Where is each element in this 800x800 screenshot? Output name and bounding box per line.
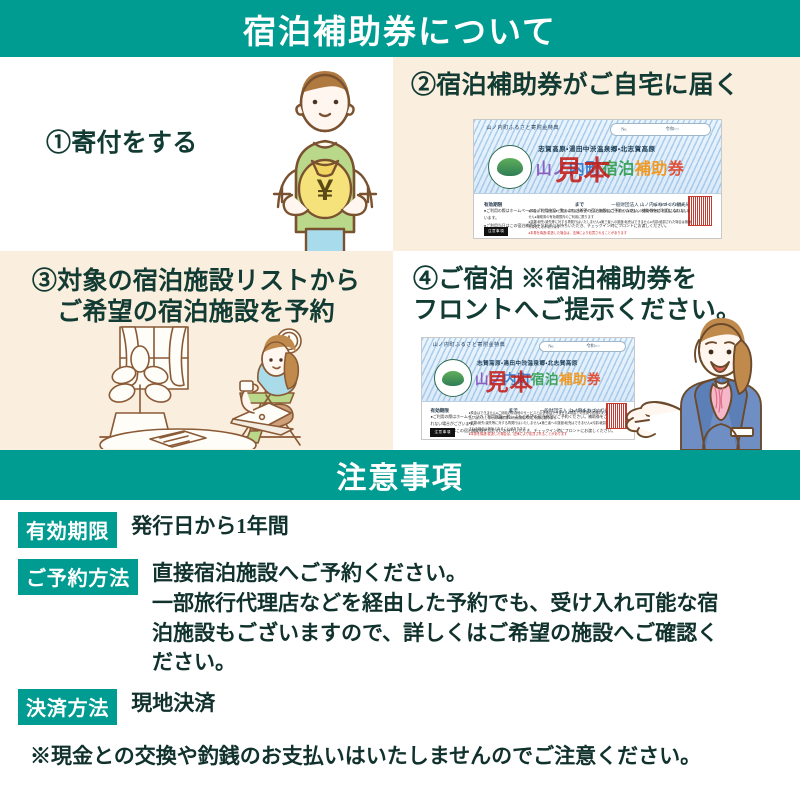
- voucher-title-part-5b: 券: [587, 372, 601, 387]
- infographic-page: 宿泊補助券について ①寄付をする: [0, 0, 800, 800]
- voucher-title-part-4b: 補助: [559, 372, 587, 387]
- sample-stamp-2: 見本: [486, 363, 534, 397]
- voucher-title-part-3b: 宿泊: [531, 372, 559, 387]
- voucher-fine-print-2b: ●盗難・紛失・滅失等に対する再発行はいたしません●第三者への譲渡・転売はできませ…: [469, 421, 609, 432]
- sample-stamp: 見本: [556, 149, 612, 188]
- voucher-number-value-2: 令和○○: [586, 343, 599, 349]
- page-title: 宿泊補助券について: [243, 5, 557, 53]
- voucher-title-part-5: 券: [668, 161, 685, 178]
- step-2-title: ②宿泊補助券がご自宅に届く: [411, 71, 739, 102]
- notes-header-banner: 注意事項: [0, 450, 800, 500]
- voucher-fine-print: ●換金はできません●ご利用の際は他のサービスとの併用はできません●現金との交換や…: [528, 209, 691, 236]
- voucher-expiry-label-2: 有効期限: [430, 408, 448, 414]
- hotel-receptionist-illustration: [603, 310, 793, 450]
- voucher-fine-print-3: ●本券を偽造・変造した場合は、法律により処罰されることがあります: [528, 231, 691, 236]
- voucher-black-tag: 注意事項: [484, 227, 508, 236]
- steps-grid: ①寄付をする: [0, 57, 800, 450]
- note-tag-expiry: 有効期限: [18, 512, 117, 548]
- voucher-title-part-4: 補助: [635, 161, 668, 178]
- notes-header-title: 注意事項: [336, 453, 463, 497]
- town-logo-icon: [488, 145, 532, 189]
- voucher-fine-print-2: ●盗難・紛失・滅失等に対する再発行はいたしません●第三者への譲渡・転売はできませ…: [528, 220, 691, 231]
- voucher-fine-print-1b: ●換金はできません●ご利用の際は他のサービスとの併用はできません●現金との交換や…: [469, 411, 609, 422]
- voucher-number-label: No.: [621, 127, 627, 132]
- voucher-fine-print-b: ●換金はできません●ご利用の際は他のサービスとの併用はできません●現金との交換や…: [469, 411, 609, 438]
- town-logo-icon-2: [434, 359, 472, 397]
- voucher-qr-icon: [688, 196, 712, 226]
- voucher-expiry-row: 有効期限 まで 一般財団法人 山ノ内まちづくり観光局 ℡0269-33-2138: [484, 202, 711, 209]
- note-tag-reservation: ご予約方法: [18, 559, 138, 595]
- voucher-brand: 山ノ内町ふるさと寄附金特典: [486, 124, 559, 131]
- voucher-black-tag-2: 注意事項: [430, 428, 454, 437]
- voucher-expiry-value: まで: [575, 202, 584, 208]
- voucher-phone: ℡0269-33-2138: [653, 202, 684, 208]
- note-row-expiry: 有効期限 発行日から1年間: [18, 512, 782, 548]
- notes-footer: ※現金との交換や釣銭のお支払いはいたしませんのでご注意ください。: [18, 736, 782, 770]
- voucher-fine-print-3b: ●本券を偽造・変造した場合は、法律により処罰されることがあります: [469, 432, 609, 437]
- svg-text:¥: ¥: [317, 174, 334, 207]
- voucher-ticket-step2: 山ノ内町ふるさと寄附金特典 No. 令和○○ 志賀高原・湯田中渋温泉郷・北志賀高…: [473, 119, 722, 239]
- voucher-number-value: 令和○○: [666, 126, 679, 132]
- page-title-banner: 宿泊補助券について: [0, 0, 800, 57]
- voucher-bottom: 有効期限 まで 一般財団法人 山ノ内まちづくり観光局 ℡0269-33-2138…: [474, 194, 721, 239]
- note-body-expiry: 発行日から1年間: [131, 512, 289, 542]
- note-tag-payment: 決済方法: [18, 689, 117, 725]
- note-row-reservation: ご予約方法 直接宿泊施設へご予約ください。 一部旅行代理店などを経由した予約でも…: [18, 559, 782, 678]
- step-card-4: ④ご宿泊 ※宿泊補助券を フロントへご提示ください。 山ノ内町ふるさと寄附金特典…: [393, 251, 800, 450]
- note-body-payment: 現地決済: [131, 689, 215, 719]
- voucher-number-label-2: No.: [548, 344, 554, 349]
- note-body-reservation: 直接宿泊施設へご予約ください。 一部旅行代理店などを経由した予約でも、受け入れ可…: [152, 559, 718, 678]
- note-row-payment: 決済方法 現地決済: [18, 689, 782, 725]
- voucher-fine-print-1: ●換金はできません●ご利用の際は他のサービスとの併用はできません●現金との交換や…: [528, 209, 691, 220]
- step-1-title: ①寄付をする: [46, 129, 198, 160]
- step-card-1: ①寄付をする: [0, 57, 393, 251]
- voucher-top: 山ノ内町ふるさと寄附金特典 No. 令和○○ 志賀高原・湯田中渋温泉郷・北志賀高…: [474, 120, 721, 194]
- man-holding-money-bag-icon: ¥: [250, 57, 393, 251]
- woman-with-laptop-illustration: [0, 319, 390, 449]
- voucher-brand-2: 山ノ内町ふるさと寄附金特典: [433, 341, 506, 348]
- notes-section: 有効期限 発行日から1年間 ご予約方法 直接宿泊施設へご予約ください。 一部旅行…: [0, 500, 800, 770]
- voucher-expiry-label: 有効期限: [484, 202, 502, 208]
- voucher-number-box: No. 令和○○: [610, 123, 711, 136]
- step-card-2: ②宿泊補助券がご自宅に届く 山ノ内町ふるさと寄附金特典 No. 令和○○ 志賀高…: [393, 57, 800, 251]
- step-card-3: ③対象の宿泊施設リストから ご希望の宿泊施設を予約: [0, 251, 393, 450]
